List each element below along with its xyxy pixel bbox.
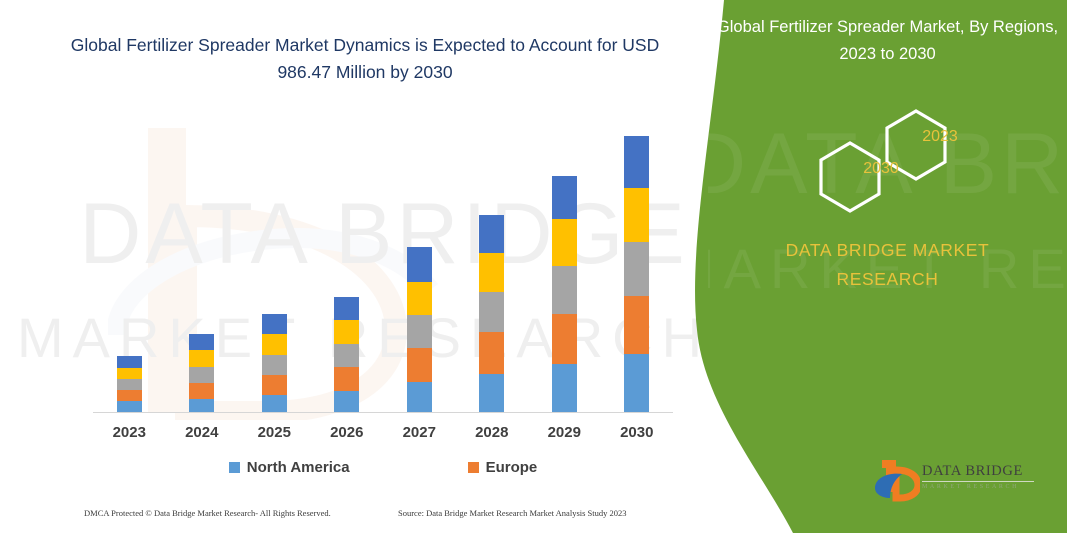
bar-segment-europe <box>334 367 359 391</box>
bar-segment-north-america <box>479 374 504 412</box>
bar-segment-europe <box>262 375 287 395</box>
bar-segment-series-3 <box>624 242 649 296</box>
bar-segment-north-america <box>262 395 287 412</box>
bar-segment-series-5 <box>189 334 214 350</box>
bar-segment-series-5 <box>552 176 577 219</box>
bar-segment-series-5 <box>479 215 504 253</box>
stacked-bar <box>552 176 577 412</box>
logo-subtitle: MARKET RESEARCH <box>922 484 1042 490</box>
panel-title: Global Fertilizer Spreader Market, By Re… <box>716 14 1059 68</box>
footer-source: Source: Data Bridge Market Research Mark… <box>398 508 627 518</box>
bar-column-2024 <box>166 120 239 412</box>
bar-chart-plot <box>93 120 673 412</box>
bar-segment-north-america <box>117 401 142 412</box>
legend-label: Europe <box>486 459 538 476</box>
bar-segment-series-4 <box>479 253 504 292</box>
stacked-bar <box>262 314 287 412</box>
infographic-canvas: DATA BRIDGE MARKET RESEARCH Global Ferti… <box>0 0 1067 533</box>
legend-swatch-icon <box>229 462 240 473</box>
bar-column-2029 <box>528 120 601 412</box>
bar-segment-europe <box>552 314 577 364</box>
bar-column-2023 <box>93 120 166 412</box>
x-axis-labels: 20232024202520262027202820292030 <box>93 424 673 441</box>
logo-text: DATA BRIDGE MARKET RESEARCH <box>922 463 1042 490</box>
bar-segment-series-3 <box>479 292 504 332</box>
bar-column-2026 <box>311 120 384 412</box>
logo-divider <box>922 481 1034 482</box>
bar-segment-series-4 <box>334 320 359 344</box>
bar-segment-series-3 <box>407 315 432 348</box>
bar-segment-series-4 <box>189 350 214 367</box>
footer: DMCA Protected © Data Bridge Market Rese… <box>0 508 708 526</box>
x-axis-label-2025: 2025 <box>238 424 311 441</box>
bar-segment-north-america <box>407 382 432 412</box>
bar-column-2025 <box>238 120 311 412</box>
data-bridge-logo: DATA BRIDGE MARKET RESEARCH <box>872 458 1042 504</box>
bar-segment-north-america <box>552 364 577 412</box>
bar-segment-north-america <box>334 391 359 412</box>
bar-column-2028 <box>456 120 529 412</box>
legend-label: North America <box>247 459 350 476</box>
stacked-bar <box>334 297 359 412</box>
bar-segment-series-5 <box>117 356 142 368</box>
bar-segment-series-3 <box>189 367 214 383</box>
hexagon-2030-label: 2030 <box>841 160 921 178</box>
bar-segment-series-5 <box>407 247 432 282</box>
bar-segment-series-3 <box>262 355 287 375</box>
chart-legend: North AmericaEurope <box>93 455 673 479</box>
x-axis-label-2030: 2030 <box>601 424 674 441</box>
chart-title: Global Fertilizer Spreader Market Dynami… <box>60 32 670 86</box>
bar-segment-europe <box>117 390 142 401</box>
bar-segment-series-5 <box>624 136 649 188</box>
x-axis-label-2023: 2023 <box>93 424 166 441</box>
bar-segment-europe <box>479 332 504 374</box>
logo-title: DATA BRIDGE <box>922 463 1042 480</box>
legend-item-north-america[interactable]: North America <box>229 459 350 476</box>
x-axis-label-2027: 2027 <box>383 424 456 441</box>
stacked-bar <box>407 247 432 412</box>
bar-segment-series-5 <box>334 297 359 320</box>
bar-segment-north-america <box>189 399 214 412</box>
hexagon-2023-label: 2023 <box>905 128 975 146</box>
bar-segment-north-america <box>624 354 649 412</box>
bar-segment-series-5 <box>262 314 287 334</box>
bar-segment-series-3 <box>552 266 577 314</box>
bar-segment-series-4 <box>117 368 142 379</box>
bar-column-2030 <box>601 120 674 412</box>
bar-column-2027 <box>383 120 456 412</box>
bar-segment-series-3 <box>334 344 359 367</box>
stacked-bar <box>117 356 142 412</box>
brand-name: DATA BRIDGE MARKET RESEARCH <box>728 236 1047 294</box>
x-axis-label-2029: 2029 <box>528 424 601 441</box>
legend-item-europe[interactable]: Europe <box>468 459 538 476</box>
x-axis-label-2026: 2026 <box>311 424 384 441</box>
brand-line-2: RESEARCH <box>728 265 1047 294</box>
bar-segment-europe <box>189 383 214 399</box>
bar-segment-europe <box>624 296 649 354</box>
x-axis-label-2028: 2028 <box>456 424 529 441</box>
footer-copyright: DMCA Protected © Data Bridge Market Rese… <box>84 508 331 518</box>
stacked-bar <box>624 136 649 412</box>
stacked-bar <box>189 334 214 412</box>
hexagon-group-icon <box>708 92 1067 222</box>
stacked-bar <box>479 215 504 412</box>
brand-line-1: DATA BRIDGE MARKET <box>728 236 1047 265</box>
x-axis-label-2024: 2024 <box>166 424 239 441</box>
green-panel-content: DATA BRIDGE MARKET RESEARCH Global Ferti… <box>708 0 1067 533</box>
bar-segment-series-4 <box>262 334 287 355</box>
logo-mark-icon <box>872 458 920 502</box>
bar-segment-series-4 <box>552 219 577 266</box>
bar-segment-series-3 <box>117 379 142 390</box>
bar-segment-europe <box>407 348 432 382</box>
legend-swatch-icon <box>468 462 479 473</box>
bar-segment-series-4 <box>624 188 649 242</box>
x-axis-line <box>93 412 673 413</box>
bar-segment-series-4 <box>407 282 432 315</box>
